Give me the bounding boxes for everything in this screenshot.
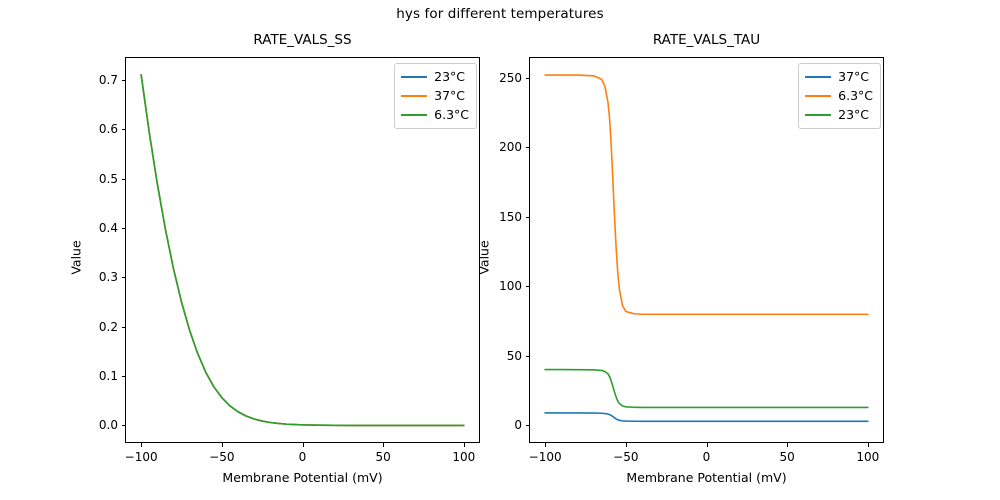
ytick-label: 100 bbox=[499, 279, 522, 293]
axes-rate-vals-ss: RATE_VALS_SS −100−500501000.00.10.20.30.… bbox=[125, 57, 480, 443]
ytick-label: 0 bbox=[514, 418, 522, 432]
ytick-label: 0.3 bbox=[99, 270, 118, 284]
xtick-label: −50 bbox=[209, 450, 234, 464]
yaxis-label-ss: Value bbox=[69, 240, 84, 274]
matplotlib-figure: hys for different temperatures RATE_VALS… bbox=[0, 0, 1000, 500]
xtick-label: 100 bbox=[856, 450, 879, 464]
xtick-mark bbox=[303, 443, 304, 447]
xtick-label: 0 bbox=[299, 450, 307, 464]
xtick-label: 0 bbox=[703, 450, 711, 464]
xtick-mark bbox=[626, 443, 627, 447]
xtick-label: −100 bbox=[125, 450, 158, 464]
legend-entry[interactable]: 37°C bbox=[401, 88, 469, 104]
ytick-mark bbox=[526, 147, 530, 148]
xtick-mark bbox=[545, 443, 546, 447]
ytick-label: 50 bbox=[507, 349, 522, 363]
legend-color-swatch bbox=[401, 114, 427, 116]
xtick-label: 50 bbox=[780, 450, 795, 464]
xtick-label: 100 bbox=[452, 450, 475, 464]
legend-entry[interactable]: 23°C bbox=[805, 107, 873, 123]
legend-label: 23°C bbox=[838, 107, 869, 123]
xtick-mark bbox=[787, 443, 788, 447]
legend-color-swatch bbox=[805, 76, 831, 78]
ytick-label: 0.4 bbox=[99, 221, 118, 235]
legend-color-swatch bbox=[805, 114, 831, 116]
legend-label: 37°C bbox=[434, 88, 465, 104]
ytick-mark bbox=[526, 286, 530, 287]
subplot-title-ss: RATE_VALS_SS bbox=[125, 32, 480, 48]
xtick-label: −100 bbox=[529, 450, 562, 464]
ytick-mark bbox=[526, 217, 530, 218]
ytick-mark bbox=[122, 228, 126, 229]
legend-entry[interactable]: 6.3°C bbox=[805, 88, 873, 104]
ytick-mark bbox=[526, 356, 530, 357]
xtick-mark bbox=[222, 443, 223, 447]
series-line-0 bbox=[545, 413, 868, 421]
xtick-mark bbox=[707, 443, 708, 447]
legend-color-swatch bbox=[401, 76, 427, 78]
xtick-mark bbox=[141, 443, 142, 447]
xtick-mark bbox=[383, 443, 384, 447]
ytick-mark bbox=[122, 129, 126, 130]
legend-entry[interactable]: 23°C bbox=[401, 69, 469, 85]
ytick-mark bbox=[122, 425, 126, 426]
legend-color-swatch bbox=[401, 95, 427, 97]
legend-entry[interactable]: 37°C bbox=[805, 69, 873, 85]
ytick-mark bbox=[122, 277, 126, 278]
ytick-mark bbox=[122, 327, 126, 328]
figure-suptitle: hys for different temperatures bbox=[0, 6, 1000, 22]
ytick-mark bbox=[122, 376, 126, 377]
ytick-mark bbox=[122, 179, 126, 180]
xtick-mark bbox=[868, 443, 869, 447]
xaxis-label-tau: Membrane Potential (mV) bbox=[529, 470, 884, 485]
legend-ss[interactable]: 23°C37°C6.3°C bbox=[394, 63, 477, 129]
ytick-label: 0.5 bbox=[99, 172, 118, 186]
ytick-label: 0.0 bbox=[99, 418, 118, 432]
ytick-mark bbox=[122, 80, 126, 81]
xtick-mark bbox=[464, 443, 465, 447]
ytick-label: 250 bbox=[499, 71, 522, 85]
ytick-label: 0.2 bbox=[99, 320, 118, 334]
series-line-2 bbox=[545, 370, 868, 408]
ytick-label: 0.1 bbox=[99, 369, 118, 383]
legend-label: 23°C bbox=[434, 69, 465, 85]
ytick-label: 0.6 bbox=[99, 122, 118, 136]
ytick-label: 0.7 bbox=[99, 73, 118, 87]
legend-tau[interactable]: 37°C6.3°C23°C bbox=[798, 63, 881, 129]
legend-label: 6.3°C bbox=[434, 107, 469, 123]
ytick-label: 150 bbox=[499, 210, 522, 224]
yaxis-label-tau: Value bbox=[477, 240, 492, 274]
ytick-mark bbox=[526, 78, 530, 79]
legend-label: 37°C bbox=[838, 69, 869, 85]
xtick-label: 50 bbox=[376, 450, 391, 464]
ytick-mark bbox=[526, 425, 530, 426]
ytick-label: 200 bbox=[499, 140, 522, 154]
subplot-title-tau: RATE_VALS_TAU bbox=[529, 32, 884, 48]
legend-entry[interactable]: 6.3°C bbox=[401, 107, 469, 123]
axes-rate-vals-tau: RATE_VALS_TAU −100−500501000501001502002… bbox=[529, 57, 884, 443]
legend-label: 6.3°C bbox=[838, 88, 873, 104]
xtick-label: −50 bbox=[613, 450, 638, 464]
legend-color-swatch bbox=[805, 95, 831, 97]
xaxis-label-ss: Membrane Potential (mV) bbox=[125, 470, 480, 485]
